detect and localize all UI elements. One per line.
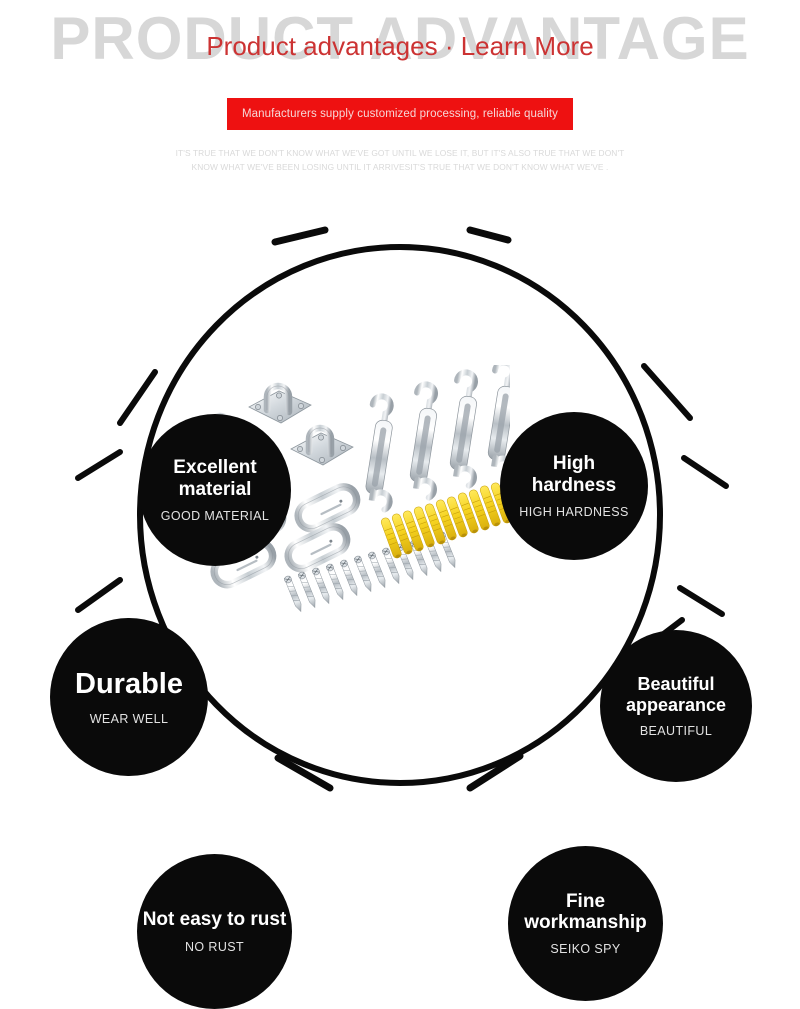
tick-beautiful-upper — [684, 458, 726, 486]
advantage-title: Beautiful appearance — [626, 674, 726, 714]
advantage-bubble-excellent-material[interactable]: Excellent material GOOD MATERIAL — [139, 414, 291, 566]
advantage-subtitle: SEIKO SPY — [550, 942, 620, 956]
advantage-title: High hardness — [532, 453, 616, 496]
tick-hardness-upper — [470, 230, 508, 240]
subtitle-banner-label: Manufacturers supply customized processi… — [242, 108, 558, 120]
advantage-bubble-durable[interactable]: Durable WEAR WELL — [50, 618, 208, 776]
tick-beautiful-lower — [680, 588, 722, 614]
tick-excellent-upper — [275, 230, 325, 242]
tick-excellent-lower — [120, 372, 155, 423]
tick-durable-lower — [78, 580, 120, 610]
advantage-subtitle: GOOD MATERIAL — [161, 509, 269, 523]
advantage-subtitle: HIGH HARDNESS — [519, 505, 628, 519]
advantage-subtitle: WEAR WELL — [90, 712, 169, 726]
advantage-subtitle: NO RUST — [185, 940, 244, 954]
advantage-bubble-fine-workmanship[interactable]: Fine workmanship SEIKO SPY — [508, 846, 663, 1001]
advantage-bubble-beautiful-appearance[interactable]: Beautiful appearance BEAUTIFUL — [600, 630, 752, 782]
advantages-diagram: Excellent material GOOD MATERIAL High ha… — [0, 190, 800, 833]
tick-durable-upper — [78, 452, 120, 478]
page-title: Product advantages · Learn More — [0, 31, 800, 62]
subtitle-banner: Manufacturers supply customized processi… — [227, 98, 573, 130]
header-section: PRODUCT ADVANTAGE Product advantages · L… — [0, 0, 800, 200]
advantage-title: Durable — [75, 668, 183, 700]
description-paragraph: IT'S TRUE THAT WE DON'T KNOW WHAT WE'VE … — [165, 146, 635, 174]
advantage-title: Excellent material — [173, 457, 256, 500]
advantage-bubble-high-hardness[interactable]: High hardness HIGH HARDNESS — [500, 412, 648, 560]
tick-hardness-lower — [644, 366, 690, 418]
advantage-bubble-not-easy-to-rust[interactable]: Not easy to rust NO RUST — [137, 854, 292, 1009]
advantage-title: Fine workmanship — [524, 891, 646, 934]
advantage-title: Not easy to rust — [143, 909, 287, 930]
advantage-subtitle: BEAUTIFUL — [640, 724, 712, 738]
